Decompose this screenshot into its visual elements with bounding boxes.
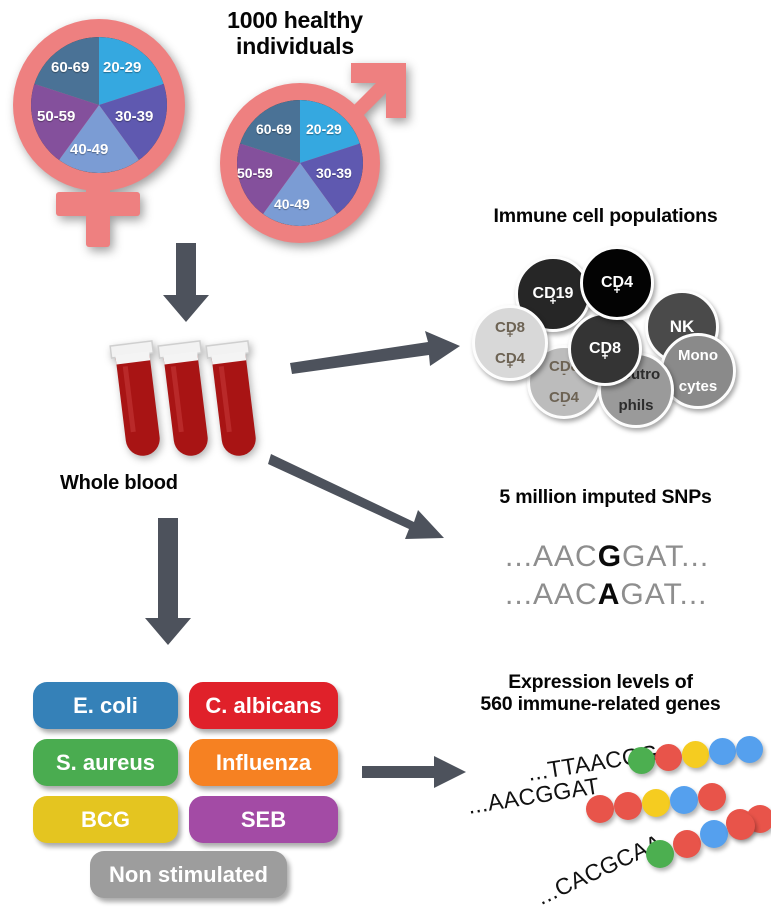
female-segment-label-60-69: 60-69 bbox=[51, 59, 89, 76]
gene-sequence-3: ...CACGCAA bbox=[532, 829, 667, 911]
stimulus-label: C. albicans bbox=[205, 693, 321, 719]
stimulus-label: BCG bbox=[81, 807, 130, 833]
male-segment-label-20-29: 20-29 bbox=[306, 121, 342, 137]
snp-prefix-1: ...AAC bbox=[505, 540, 598, 573]
arrow-blood-to-immune bbox=[288, 330, 463, 375]
female-segment-label-20-29: 20-29 bbox=[103, 59, 141, 76]
stimulus-label: Non stimulated bbox=[109, 862, 268, 888]
cohort-title-line1: 1000 healthy bbox=[170, 8, 420, 34]
gene-bead bbox=[727, 812, 755, 840]
expression-title-line2: 560 immune-related genes bbox=[430, 694, 771, 716]
gene-bead bbox=[670, 786, 698, 814]
immune-title: Immune cell populations bbox=[440, 206, 771, 228]
female-cross bbox=[56, 192, 140, 216]
stimulus-c-albicans[interactable]: C. albicans bbox=[189, 682, 338, 729]
male-symbol: 20-29 30-39 40-49 50-59 60-69 bbox=[208, 55, 413, 250]
female-segment-label-40-49: 40-49 bbox=[70, 141, 108, 158]
expression-title: Expression levels of 560 immune-related … bbox=[430, 672, 771, 716]
gene-bead bbox=[682, 741, 709, 768]
male-segment-label-40-49: 40-49 bbox=[274, 196, 310, 212]
snp-prefix-2: ...AAC bbox=[505, 578, 598, 611]
stimulus-seb[interactable]: SEB bbox=[189, 796, 338, 843]
snp-variant-1: G bbox=[598, 540, 622, 573]
gene-bead bbox=[673, 830, 701, 858]
gene-bead bbox=[700, 820, 728, 848]
gene-bead bbox=[586, 795, 614, 823]
stimulus-non-stimulated[interactable]: Non stimulated bbox=[90, 851, 287, 898]
immune-cell-cd8-positive: CD8+ bbox=[568, 312, 642, 386]
gene-bead bbox=[646, 840, 674, 868]
female-segment-label-50-59: 50-59 bbox=[37, 108, 75, 125]
female-segment-label-30-39: 30-39 bbox=[115, 108, 153, 125]
snp-sequence-row-2: ...AACAGAT... bbox=[505, 578, 708, 612]
arrow-stimuli-to-expression bbox=[362, 755, 472, 791]
arrow-cohort-to-blood bbox=[158, 243, 214, 325]
gene-bead bbox=[614, 792, 642, 820]
figure-canvas: 1000 healthy individuals 20-29 30-39 40-… bbox=[0, 0, 771, 922]
snp-title: 5 million imputed SNPs bbox=[440, 487, 771, 509]
male-segment-label-50-59: 50-59 bbox=[237, 165, 273, 181]
gene-bead bbox=[642, 789, 670, 817]
arrow-blood-to-stimuli bbox=[140, 518, 196, 648]
gene-bead bbox=[655, 744, 682, 771]
snp-variant-2: A bbox=[598, 578, 621, 611]
snp-suffix-1: GAT... bbox=[622, 540, 709, 573]
stimulus-bcg[interactable]: BCG bbox=[33, 796, 178, 843]
snp-sequence-row-1: ...AACGGAT... bbox=[505, 540, 709, 574]
snp-suffix-2: GAT... bbox=[620, 578, 707, 611]
gene-bead bbox=[628, 747, 655, 774]
stimulus-label: SEB bbox=[241, 807, 286, 833]
gene-bead bbox=[709, 738, 736, 765]
cohort-title: 1000 healthy individuals bbox=[170, 8, 420, 60]
arrow-blood-to-snp bbox=[268, 450, 453, 545]
male-segment-label-60-69: 60-69 bbox=[256, 121, 292, 137]
gene-bead bbox=[698, 783, 726, 811]
female-symbol: 20-29 30-39 40-49 50-59 60-69 bbox=[8, 14, 198, 244]
immune-cell-cd4-positive: CD4+ bbox=[580, 246, 654, 320]
immune-cell-cd8-positive-cd4-positive: CD8+ CD4+ bbox=[472, 305, 548, 381]
expression-title-line1: Expression levels of bbox=[430, 672, 771, 694]
stimulus-s-aureus[interactable]: S. aureus bbox=[33, 739, 178, 786]
blood-tubes-svg bbox=[98, 340, 278, 470]
stimulus-influenza[interactable]: Influenza bbox=[189, 739, 338, 786]
male-segment-label-30-39: 30-39 bbox=[316, 165, 352, 181]
whole-blood-label: Whole blood bbox=[60, 472, 260, 494]
gene-bead bbox=[736, 736, 763, 763]
stimulus-label: S. aureus bbox=[56, 750, 155, 776]
stimulus-label: E. coli bbox=[73, 693, 138, 719]
blood-tubes-icon bbox=[98, 340, 278, 470]
stimulus-label: Influenza bbox=[216, 750, 311, 776]
stimulus-e-coli[interactable]: E. coli bbox=[33, 682, 178, 729]
